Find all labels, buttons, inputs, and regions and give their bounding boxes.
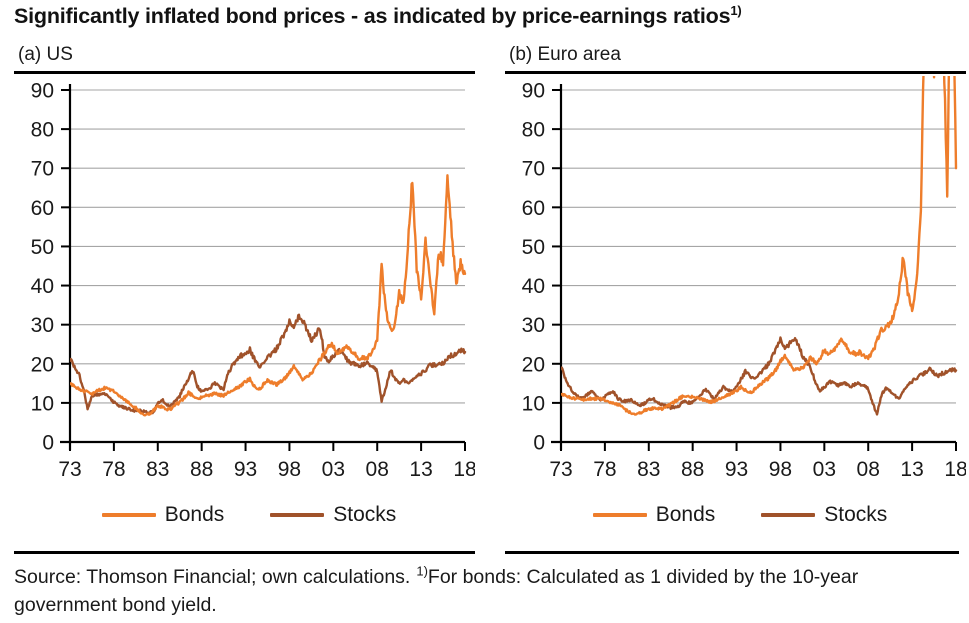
svg-text:40: 40 <box>522 275 545 298</box>
svg-text:90: 90 <box>31 79 54 102</box>
svg-text:98: 98 <box>278 458 301 481</box>
legend-euro: Bonds Stocks <box>505 493 969 537</box>
title-footnote-marker: 1) <box>730 3 741 18</box>
page-title: Significantly inflated bond prices - as … <box>14 4 742 29</box>
footer-text: Source: Thomson Financial; own calculati… <box>14 563 959 619</box>
source-text: Source: Thomson Financial; own calculati… <box>14 566 410 588</box>
svg-text:18: 18 <box>944 458 966 481</box>
svg-text:50: 50 <box>31 235 54 258</box>
svg-text:40: 40 <box>31 275 54 298</box>
legend-entry-stocks: Stocks <box>761 503 887 527</box>
svg-text:88: 88 <box>681 458 704 481</box>
svg-text:80: 80 <box>522 118 545 141</box>
svg-text:78: 78 <box>102 458 125 481</box>
legend-label-bonds: Bonds <box>165 503 225 527</box>
footer-rule-left <box>14 551 475 554</box>
footer-rule-right <box>505 551 959 554</box>
svg-text:83: 83 <box>637 458 660 481</box>
footnote-marker: 1) <box>416 564 428 579</box>
svg-text:98: 98 <box>769 458 792 481</box>
svg-text:20: 20 <box>31 353 54 376</box>
legend-entry-stocks: Stocks <box>270 503 396 527</box>
chart-panel-us: (a) US 010203040506070809073788388939803… <box>14 42 484 547</box>
svg-text:18: 18 <box>453 458 475 481</box>
svg-text:90: 90 <box>522 79 545 102</box>
legend-swatch-stocks-icon <box>761 513 815 517</box>
svg-text:03: 03 <box>813 458 836 481</box>
svg-text:08: 08 <box>857 458 880 481</box>
svg-text:70: 70 <box>522 157 545 180</box>
legend-label-stocks: Stocks <box>824 503 887 527</box>
svg-text:83: 83 <box>146 458 169 481</box>
legend-swatch-stocks-icon <box>270 513 324 517</box>
svg-text:30: 30 <box>31 314 54 337</box>
svg-text:08: 08 <box>366 458 389 481</box>
svg-text:93: 93 <box>234 458 257 481</box>
figure-footer: Source: Thomson Financial; own calculati… <box>14 551 959 619</box>
svg-text:80: 80 <box>31 118 54 141</box>
chart-svg-euro: 010203040506070809073788388939803081318 <box>505 74 966 489</box>
svg-text:30: 30 <box>522 314 545 337</box>
svg-text:03: 03 <box>322 458 345 481</box>
svg-text:0: 0 <box>42 431 54 454</box>
legend-swatch-bonds-icon <box>593 513 647 517</box>
figure-page: Significantly inflated bond prices - as … <box>0 0 969 623</box>
legend-label-bonds: Bonds <box>656 503 716 527</box>
svg-text:20: 20 <box>522 353 545 376</box>
svg-text:60: 60 <box>31 196 54 219</box>
svg-text:93: 93 <box>725 458 748 481</box>
legend-us: Bonds Stocks <box>14 493 484 537</box>
svg-text:73: 73 <box>58 458 81 481</box>
chart-panel-euro: (b) Euro area 01020304050607080907378838… <box>505 42 969 547</box>
svg-text:78: 78 <box>593 458 616 481</box>
plot-area-euro: 010203040506070809073788388939803081318 <box>505 74 966 489</box>
page-title-text: Significantly inflated bond prices - as … <box>14 4 730 28</box>
panel-title-us: (a) US <box>14 42 484 70</box>
svg-text:13: 13 <box>409 458 432 481</box>
svg-text:70: 70 <box>31 157 54 180</box>
chart-svg-us: 010203040506070809073788388939803081318 <box>14 74 475 489</box>
legend-entry-bonds: Bonds <box>593 503 716 527</box>
svg-text:10: 10 <box>31 392 54 415</box>
svg-text:50: 50 <box>522 235 545 258</box>
svg-text:10: 10 <box>522 392 545 415</box>
svg-text:88: 88 <box>190 458 213 481</box>
svg-text:13: 13 <box>900 458 923 481</box>
legend-entry-bonds: Bonds <box>102 503 225 527</box>
panel-title-euro: (b) Euro area <box>505 42 969 70</box>
plot-area-us: 010203040506070809073788388939803081318 <box>14 74 475 489</box>
footer-rules <box>14 551 959 557</box>
svg-text:0: 0 <box>533 431 545 454</box>
svg-text:60: 60 <box>522 196 545 219</box>
svg-text:73: 73 <box>549 458 572 481</box>
legend-label-stocks: Stocks <box>333 503 396 527</box>
legend-swatch-bonds-icon <box>102 513 156 517</box>
